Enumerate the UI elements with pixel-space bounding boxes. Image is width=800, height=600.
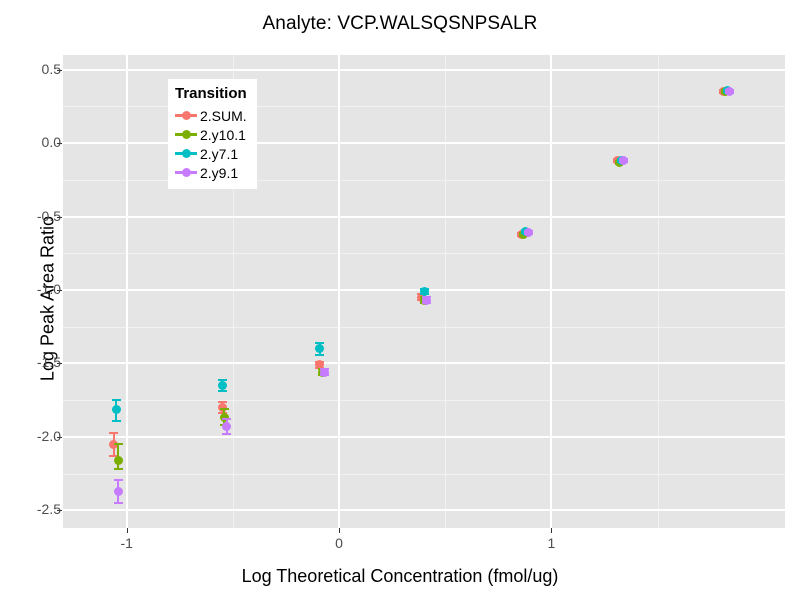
error-bar-cap — [114, 502, 123, 504]
data-point — [112, 405, 121, 414]
legend-item-label: 2.SUM. — [200, 108, 247, 124]
data-point — [222, 422, 231, 431]
x-tick-mark — [127, 528, 128, 533]
y-tick-label: 0.5 — [42, 61, 61, 77]
y-tick-label: 0.0 — [42, 134, 61, 150]
y-tick-label: -1.5 — [37, 354, 61, 370]
gridline-minor-horizontal — [63, 327, 785, 328]
legend-entries: 2.SUM.2.y10.12.y7.12.y9.1 — [175, 106, 247, 182]
error-bar-cap — [112, 420, 121, 422]
data-point — [114, 456, 123, 465]
y-tick-label: -2.5 — [37, 501, 61, 517]
x-tick-label: -1 — [97, 535, 157, 551]
error-bar-cap — [220, 408, 229, 410]
gridline-major-vertical — [126, 55, 128, 528]
legend-item-2-y7-1[interactable]: 2.y7.1 — [175, 144, 247, 163]
error-bar-cap — [315, 354, 324, 356]
gridline-minor-vertical — [658, 55, 659, 528]
legend-marker-icon — [175, 145, 197, 162]
y-tick-label: -2.0 — [37, 428, 61, 444]
gridline-minor-horizontal — [63, 253, 785, 254]
error-bar-cap — [222, 418, 231, 420]
gridline-major-vertical — [338, 55, 340, 528]
legend-item-2-sum-[interactable]: 2.SUM. — [175, 106, 247, 125]
chart-title: Analyte: VCP.WALSQSNPSALR — [0, 13, 800, 35]
x-tick-label: 1 — [521, 535, 581, 551]
data-point — [725, 87, 734, 96]
data-point — [114, 487, 123, 496]
y-tick-label: -1.0 — [37, 281, 61, 297]
legend-marker-icon — [175, 126, 197, 143]
gridline-major-horizontal — [63, 216, 785, 218]
data-point — [619, 156, 628, 165]
data-point — [422, 296, 431, 305]
x-tick-label: 0 — [309, 535, 369, 551]
gridline-major-vertical — [550, 55, 552, 528]
legend-title: Transition — [175, 85, 247, 102]
error-bar-cap — [218, 390, 227, 392]
gridline-major-horizontal — [63, 362, 785, 364]
legend-item-label: 2.y10.1 — [200, 127, 246, 143]
error-bar-cap — [114, 443, 123, 445]
data-point — [218, 381, 227, 390]
data-point — [315, 344, 324, 353]
gridline-minor-horizontal — [63, 474, 785, 475]
x-axis-title: Log Theoretical Concentration (fmol/ug) — [0, 566, 800, 587]
gridline-major-horizontal — [63, 436, 785, 438]
y-tick-label: -0.5 — [37, 208, 61, 224]
legend-item-2-y10-1[interactable]: 2.y10.1 — [175, 125, 247, 144]
error-bar-cap — [109, 432, 118, 434]
legend-marker-icon — [175, 107, 197, 124]
x-tick-mark — [339, 528, 340, 533]
legend-item-label: 2.y7.1 — [200, 146, 238, 162]
gridline-major-horizontal — [63, 509, 785, 511]
legend-item-label: 2.y9.1 — [200, 165, 238, 181]
data-point — [420, 287, 429, 296]
y-axis-title: Log Peak Area Ratio — [38, 159, 59, 439]
legend: Transition 2.SUM.2.y10.12.y7.12.y9.1 — [168, 79, 257, 189]
chart-figure: Analyte: VCP.WALSQSNPSALR Log Peak Area … — [0, 0, 800, 600]
gridline-minor-vertical — [445, 55, 446, 528]
gridline-minor-horizontal — [63, 400, 785, 401]
gridline-major-horizontal — [63, 69, 785, 71]
error-bar-cap — [222, 433, 231, 435]
legend-item-2-y9-1[interactable]: 2.y9.1 — [175, 163, 247, 182]
legend-marker-icon — [175, 164, 197, 181]
x-tick-mark — [551, 528, 552, 533]
error-bar-cap — [114, 479, 123, 481]
error-bar-cap — [114, 468, 123, 470]
data-point — [524, 228, 533, 237]
data-point — [320, 368, 329, 377]
error-bar-cap — [112, 399, 121, 401]
